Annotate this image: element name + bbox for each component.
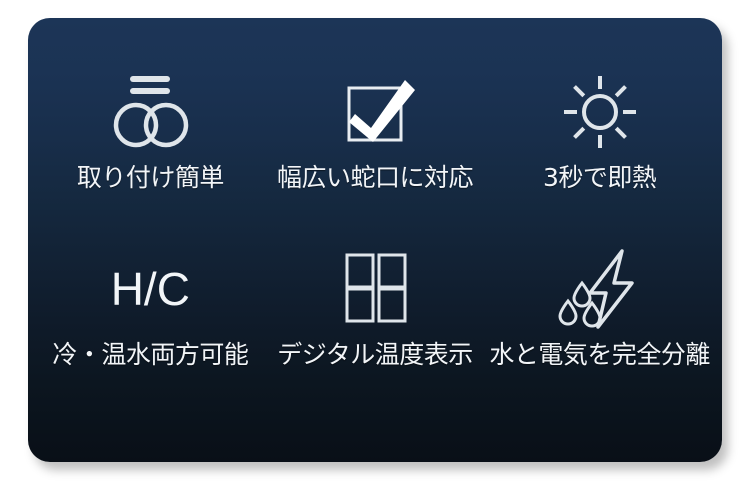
feature-label: 冷・温水両方可能 (52, 341, 248, 369)
hc-text-label: H/C (111, 266, 190, 312)
adapter-rings-icon (104, 64, 196, 160)
feature-item-wide-faucet-compatible: 幅広い蛇口に対応 (263, 64, 488, 241)
hc-text-icon: H/C (111, 241, 190, 337)
feature-label: 取り付け簡単 (77, 164, 224, 192)
sun-icon (554, 64, 646, 160)
seven-segment-display-icon (329, 241, 421, 337)
feature-item-water-electricity-separation: 水と電気を完全分離 (487, 241, 712, 418)
feature-item-hot-cold-water: H/C 冷・温水両方可能 (38, 241, 263, 418)
checkbox-checked-icon (329, 64, 421, 160)
feature-item-instant-heat: 3秒で即熱 (487, 64, 712, 241)
feature-label: 幅広い蛇口に対応 (277, 164, 473, 192)
feature-label: 3秒で即熱 (543, 164, 656, 192)
feature-label: デジタル温度表示 (277, 341, 473, 369)
lightning-water-drops-icon (554, 241, 646, 337)
feature-item-digital-temperature-display: デジタル温度表示 (263, 241, 488, 418)
feature-item-easy-install: 取り付け簡単 (38, 64, 263, 241)
feature-grid: 取り付け簡単 幅広い蛇口に対応 (28, 18, 722, 462)
feature-card: 取り付け簡単 幅広い蛇口に対応 (28, 18, 722, 462)
feature-label: 水と電気を完全分離 (489, 341, 710, 369)
